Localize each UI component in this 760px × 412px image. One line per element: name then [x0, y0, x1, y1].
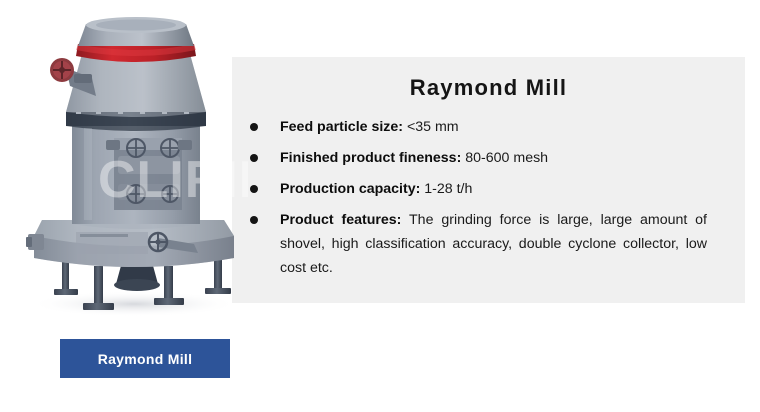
bullet-icon	[250, 154, 258, 162]
raymond-mill-illustration	[18, 8, 250, 320]
spec-value: <35 mm	[407, 119, 459, 135]
spec-label: Product features:	[280, 212, 401, 228]
bullet-icon	[250, 185, 258, 193]
spec-label: Feed particle size:	[280, 119, 403, 135]
bullet-icon	[250, 123, 258, 131]
list-item: Production capacity: 1-28 t/h	[246, 177, 709, 201]
spec-line: Finished product fineness: 80-600 mesh	[280, 146, 709, 170]
list-item: Finished product fineness: 80-600 mesh	[246, 146, 709, 170]
list-item: Product features: The grinding force is …	[246, 208, 709, 280]
list-item: Feed particle size: <35 mm	[246, 115, 709, 139]
spec-line: Product features: The grinding force is …	[280, 208, 709, 280]
spec-value: 1-28 t/h	[424, 181, 472, 197]
bullet-icon	[250, 216, 258, 224]
spec-line: Production capacity: 1-28 t/h	[280, 177, 709, 201]
spec-label: Finished product fineness:	[280, 150, 461, 166]
spec-value: 80-600 mesh	[465, 150, 548, 166]
specification-panel: Raymond Mill Feed particle size: <35 mm …	[232, 57, 745, 303]
spec-list: Feed particle size: <35 mm Finished prod…	[232, 101, 745, 280]
spec-line: Feed particle size: <35 mm	[280, 115, 709, 139]
product-image: CLIRIK	[18, 8, 250, 320]
spec-label: Production capacity:	[280, 181, 420, 197]
page-title: Raymond Mill	[232, 57, 745, 101]
raymond-mill-button[interactable]: Raymond Mill	[60, 339, 230, 378]
